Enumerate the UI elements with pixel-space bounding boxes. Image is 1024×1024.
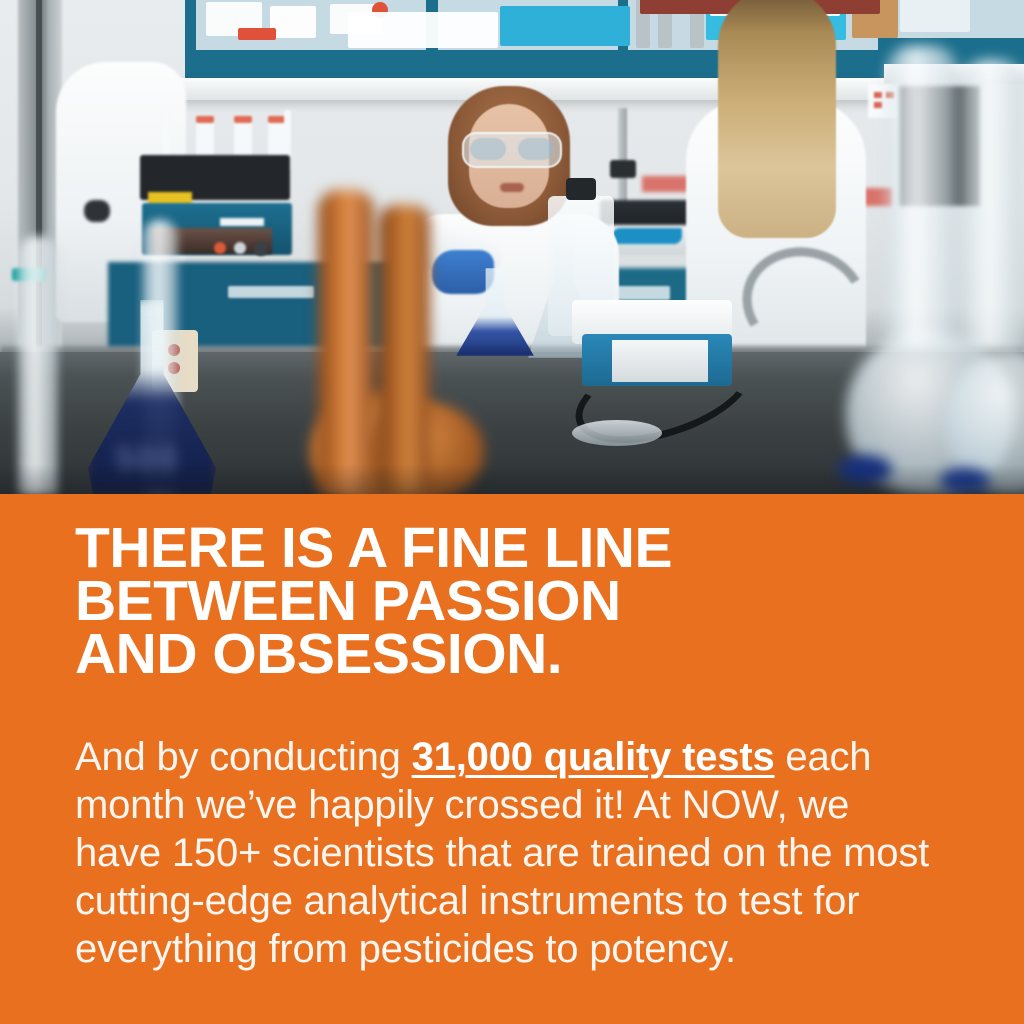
wall-switch-dot-3 (874, 102, 882, 108)
reagent-bottle-cap (566, 178, 596, 200)
cabinet-box-2 (270, 6, 316, 38)
clear-flask-neck-right-1 (886, 46, 958, 346)
blue-nitrile-glove (432, 250, 494, 294)
cabinet-blue-item (500, 6, 630, 46)
social-post-canvas: 500 THERE IS A FINE LINE BETWEEN PASSION… (0, 0, 1024, 1024)
body-copy: And by conducting 31,000 quality tests e… (75, 733, 935, 973)
foreground-pipette-left (18, 236, 58, 494)
instrument-red-knob (214, 242, 226, 254)
petri-dish (572, 420, 662, 446)
body-copy-before-highlight: And by conducting (75, 735, 412, 779)
clear-flask-neck-right-2 (960, 60, 1024, 350)
test-tube-cap-2 (234, 116, 252, 123)
orange-text-panel: THERE IS A FINE LINE BETWEEN PASSION AND… (0, 494, 1024, 1024)
cabinet-box-6 (900, 0, 970, 32)
instrument-knob-2 (254, 242, 268, 256)
goggle-lens-right (518, 138, 554, 160)
cabinet-box-4 (348, 12, 498, 48)
test-tube-cap-1 (196, 116, 214, 123)
retort-clamp (610, 160, 636, 178)
photo-bottom-shadow (0, 464, 1024, 494)
instrument-display-strip (220, 218, 264, 226)
wall-switch-dot-1 (874, 92, 882, 98)
cabinet-red-label (238, 28, 276, 40)
amber-flask-neck-2 (378, 205, 430, 494)
center-scientist-mouth (500, 183, 524, 192)
instrument-knob-1 (234, 242, 246, 254)
right-scientist-hair (718, 0, 836, 238)
amber-flask-neck-1 (318, 190, 374, 494)
safety-goggles (462, 132, 562, 168)
left-scientist-hand (84, 200, 110, 222)
laboratory-photo: 500 (0, 0, 1024, 494)
lower-cabinet-handle-1 (228, 286, 314, 298)
lab-instrument-right-logo (612, 228, 682, 244)
quality-tests-highlight: 31,000 quality tests (412, 735, 775, 779)
headline: THERE IS A FINE LINE BETWEEN PASSION AND… (75, 522, 955, 681)
goggle-lens-left (470, 138, 506, 160)
